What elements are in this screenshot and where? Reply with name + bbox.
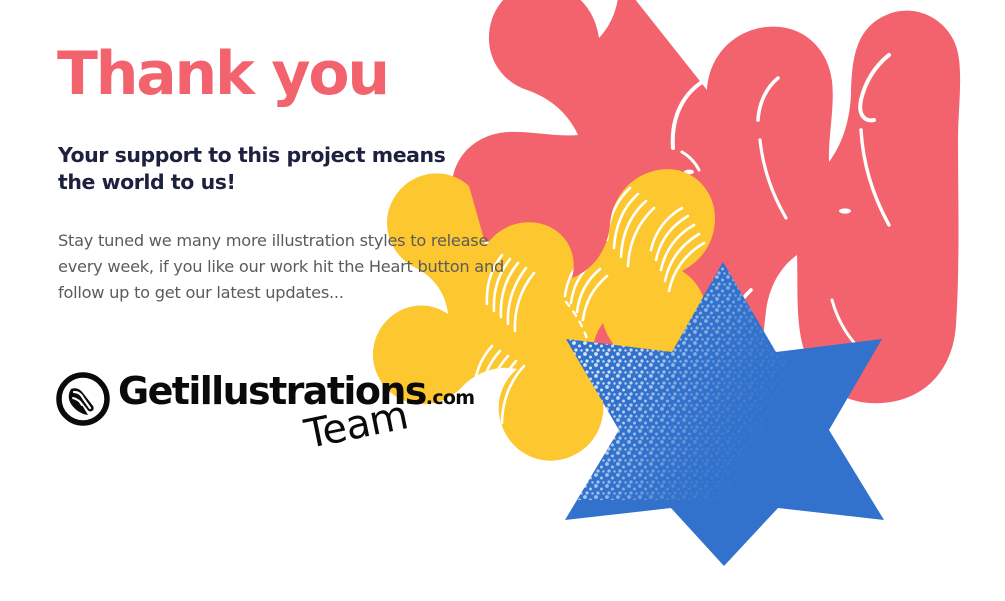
logo-lockup[interactable]: Getillustrations.com Team: [55, 369, 435, 469]
blue-star-stipple: [565, 262, 884, 566]
red-blob-fill: [452, 0, 960, 403]
blue-star-fill: [565, 262, 884, 566]
logo-wordmark-group: Getillustrations.com: [118, 369, 474, 413]
blue-star-shape: [565, 262, 920, 566]
red-blob-shape: [452, 0, 960, 403]
body-paragraph: Stay tuned we many more illustration sty…: [58, 228, 508, 307]
thank-you-slide: Thank you Your support to this project m…: [0, 0, 1005, 601]
page-title: Thank you: [57, 44, 497, 104]
getillustrations-hand-circle-icon: [55, 371, 111, 427]
red-blob-specks: [683, 170, 851, 214]
text-column: Thank you Your support to this project m…: [57, 44, 497, 104]
logo-tld-text: .com: [426, 387, 475, 409]
yellow-blob-hatching: [474, 176, 704, 423]
red-blob-highlights: [672, 55, 889, 384]
subtitle: Your support to this project means the w…: [58, 142, 478, 197]
